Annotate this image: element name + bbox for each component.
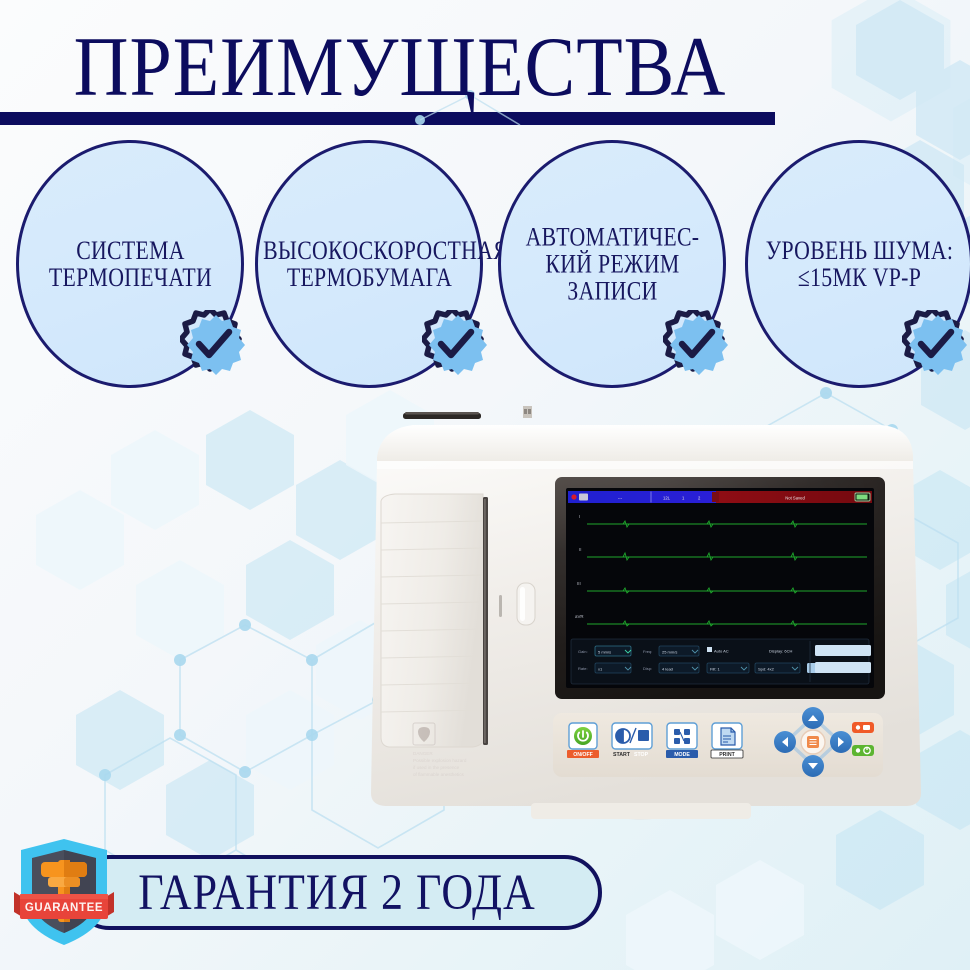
warning-line-2: if used in the presence <box>413 765 460 770</box>
control-label: Gain: <box>578 649 588 654</box>
ecg-screen[interactable]: --- 12L 1 2 Not Saved I II III aVR <box>555 477 885 699</box>
guarantee-banner: ГАРАНТИЯ 2 ГОДА <box>72 855 602 930</box>
auto-ac-checkbox[interactable] <box>707 647 712 652</box>
device-body-highlight <box>377 461 913 469</box>
dpad-right-button[interactable] <box>830 731 852 753</box>
dpad-left-button[interactable] <box>774 731 796 753</box>
freq-value: 25 mm/s <box>662 650 677 655</box>
feature-label: АВТОМАТИЧЕС-КИЙ РЕЖИМ ЗАПИСИ <box>506 224 719 305</box>
page-title: ПРЕИМУЩЕСТВА <box>0 22 790 112</box>
guarantee-shield-badge: GUARANTEE <box>14 836 114 948</box>
power-button[interactable]: ON/OFF <box>567 723 599 758</box>
print-icon <box>721 728 735 745</box>
dpad-up-button[interactable] <box>802 707 824 729</box>
status-mid-label: --- <box>618 496 623 501</box>
spd-value: Spd: 4x2 <box>758 667 775 672</box>
setup-button[interactable] <box>815 645 871 656</box>
ecg-machine-photo: DANGER Possible explosion hazard if used… <box>355 405 925 825</box>
title-block: ПРЕИМУЩЕСТВА <box>0 22 790 102</box>
device-top-handle <box>403 412 481 419</box>
power-led <box>852 745 874 756</box>
device-connector-post <box>523 406 532 418</box>
device-base <box>531 803 751 819</box>
gain-value: 5 mm/s <box>598 650 611 655</box>
print-button-label: PRINT <box>719 752 735 758</box>
lead-label: II <box>579 547 581 552</box>
status-lead-group: 12L <box>663 496 671 501</box>
auto-ac-label: Auto AC <box>714 649 729 654</box>
charge-led <box>852 722 874 733</box>
control-button-panel: ON/OFF START STOP <box>553 707 883 777</box>
check-badge-icon <box>902 310 970 378</box>
control-label: Freq: <box>643 649 652 654</box>
screen-control-panel[interactable]: Gain: 5 mm/s Rate: x1 Freq: 25 mm/s Disp… <box>571 639 871 684</box>
battery-icon <box>855 493 870 501</box>
control-label: Rate: <box>578 666 588 671</box>
ribbon-label: GUARANTEE <box>25 902 103 914</box>
lead-label: III <box>577 581 581 586</box>
status-right-label: Not Saved <box>785 496 805 501</box>
warning-line-3: of flammable anesthetics <box>413 772 465 777</box>
display-info: Display: 6CH <box>769 649 792 654</box>
dpad-center-button[interactable] <box>801 730 825 754</box>
warning-heading: DANGER <box>413 751 433 756</box>
device-top-deck <box>377 425 913 467</box>
control-label: Disp: <box>643 666 652 671</box>
feature-label: СИСТЕМА ТЕРМОПЕЧАТИ <box>24 237 237 291</box>
dpad-down-button[interactable] <box>802 755 824 777</box>
printer-door-latch[interactable] <box>517 583 535 625</box>
start-label: START <box>613 752 631 758</box>
disp-value: 4 lead <box>662 667 673 672</box>
check-badge-icon <box>422 310 490 378</box>
lead-label: I <box>579 514 580 519</box>
mode-button[interactable]: MODE <box>666 723 698 758</box>
feature-label: ВЫСОКОСКОРОСТНАЯ ТЕРМОБУМАГА <box>263 237 476 291</box>
power-button-label: ON/OFF <box>573 752 593 758</box>
feature-label: УРОВЕНЬ ШУМА: ≤15МК VP-P <box>753 237 966 291</box>
stop-label: STOP <box>634 752 649 758</box>
warning-line-1: Possible explosion hazard <box>413 758 467 763</box>
check-badge-icon <box>180 310 248 378</box>
guarantee-ribbon: GUARANTEE <box>14 892 114 919</box>
print-screen-button[interactable] <box>815 662 871 673</box>
check-badge-icon <box>663 310 731 378</box>
screen-status-bar: --- 12L 1 2 Not Saved <box>568 491 872 503</box>
lead-label: aVR <box>575 614 584 619</box>
guarantee-label: ГАРАНТИЯ 2 ГОДА <box>138 863 536 922</box>
print-button[interactable]: PRINT <box>711 723 743 758</box>
mode-button-label: MODE <box>674 752 690 758</box>
filt-value: Filt: 1 <box>710 667 721 672</box>
